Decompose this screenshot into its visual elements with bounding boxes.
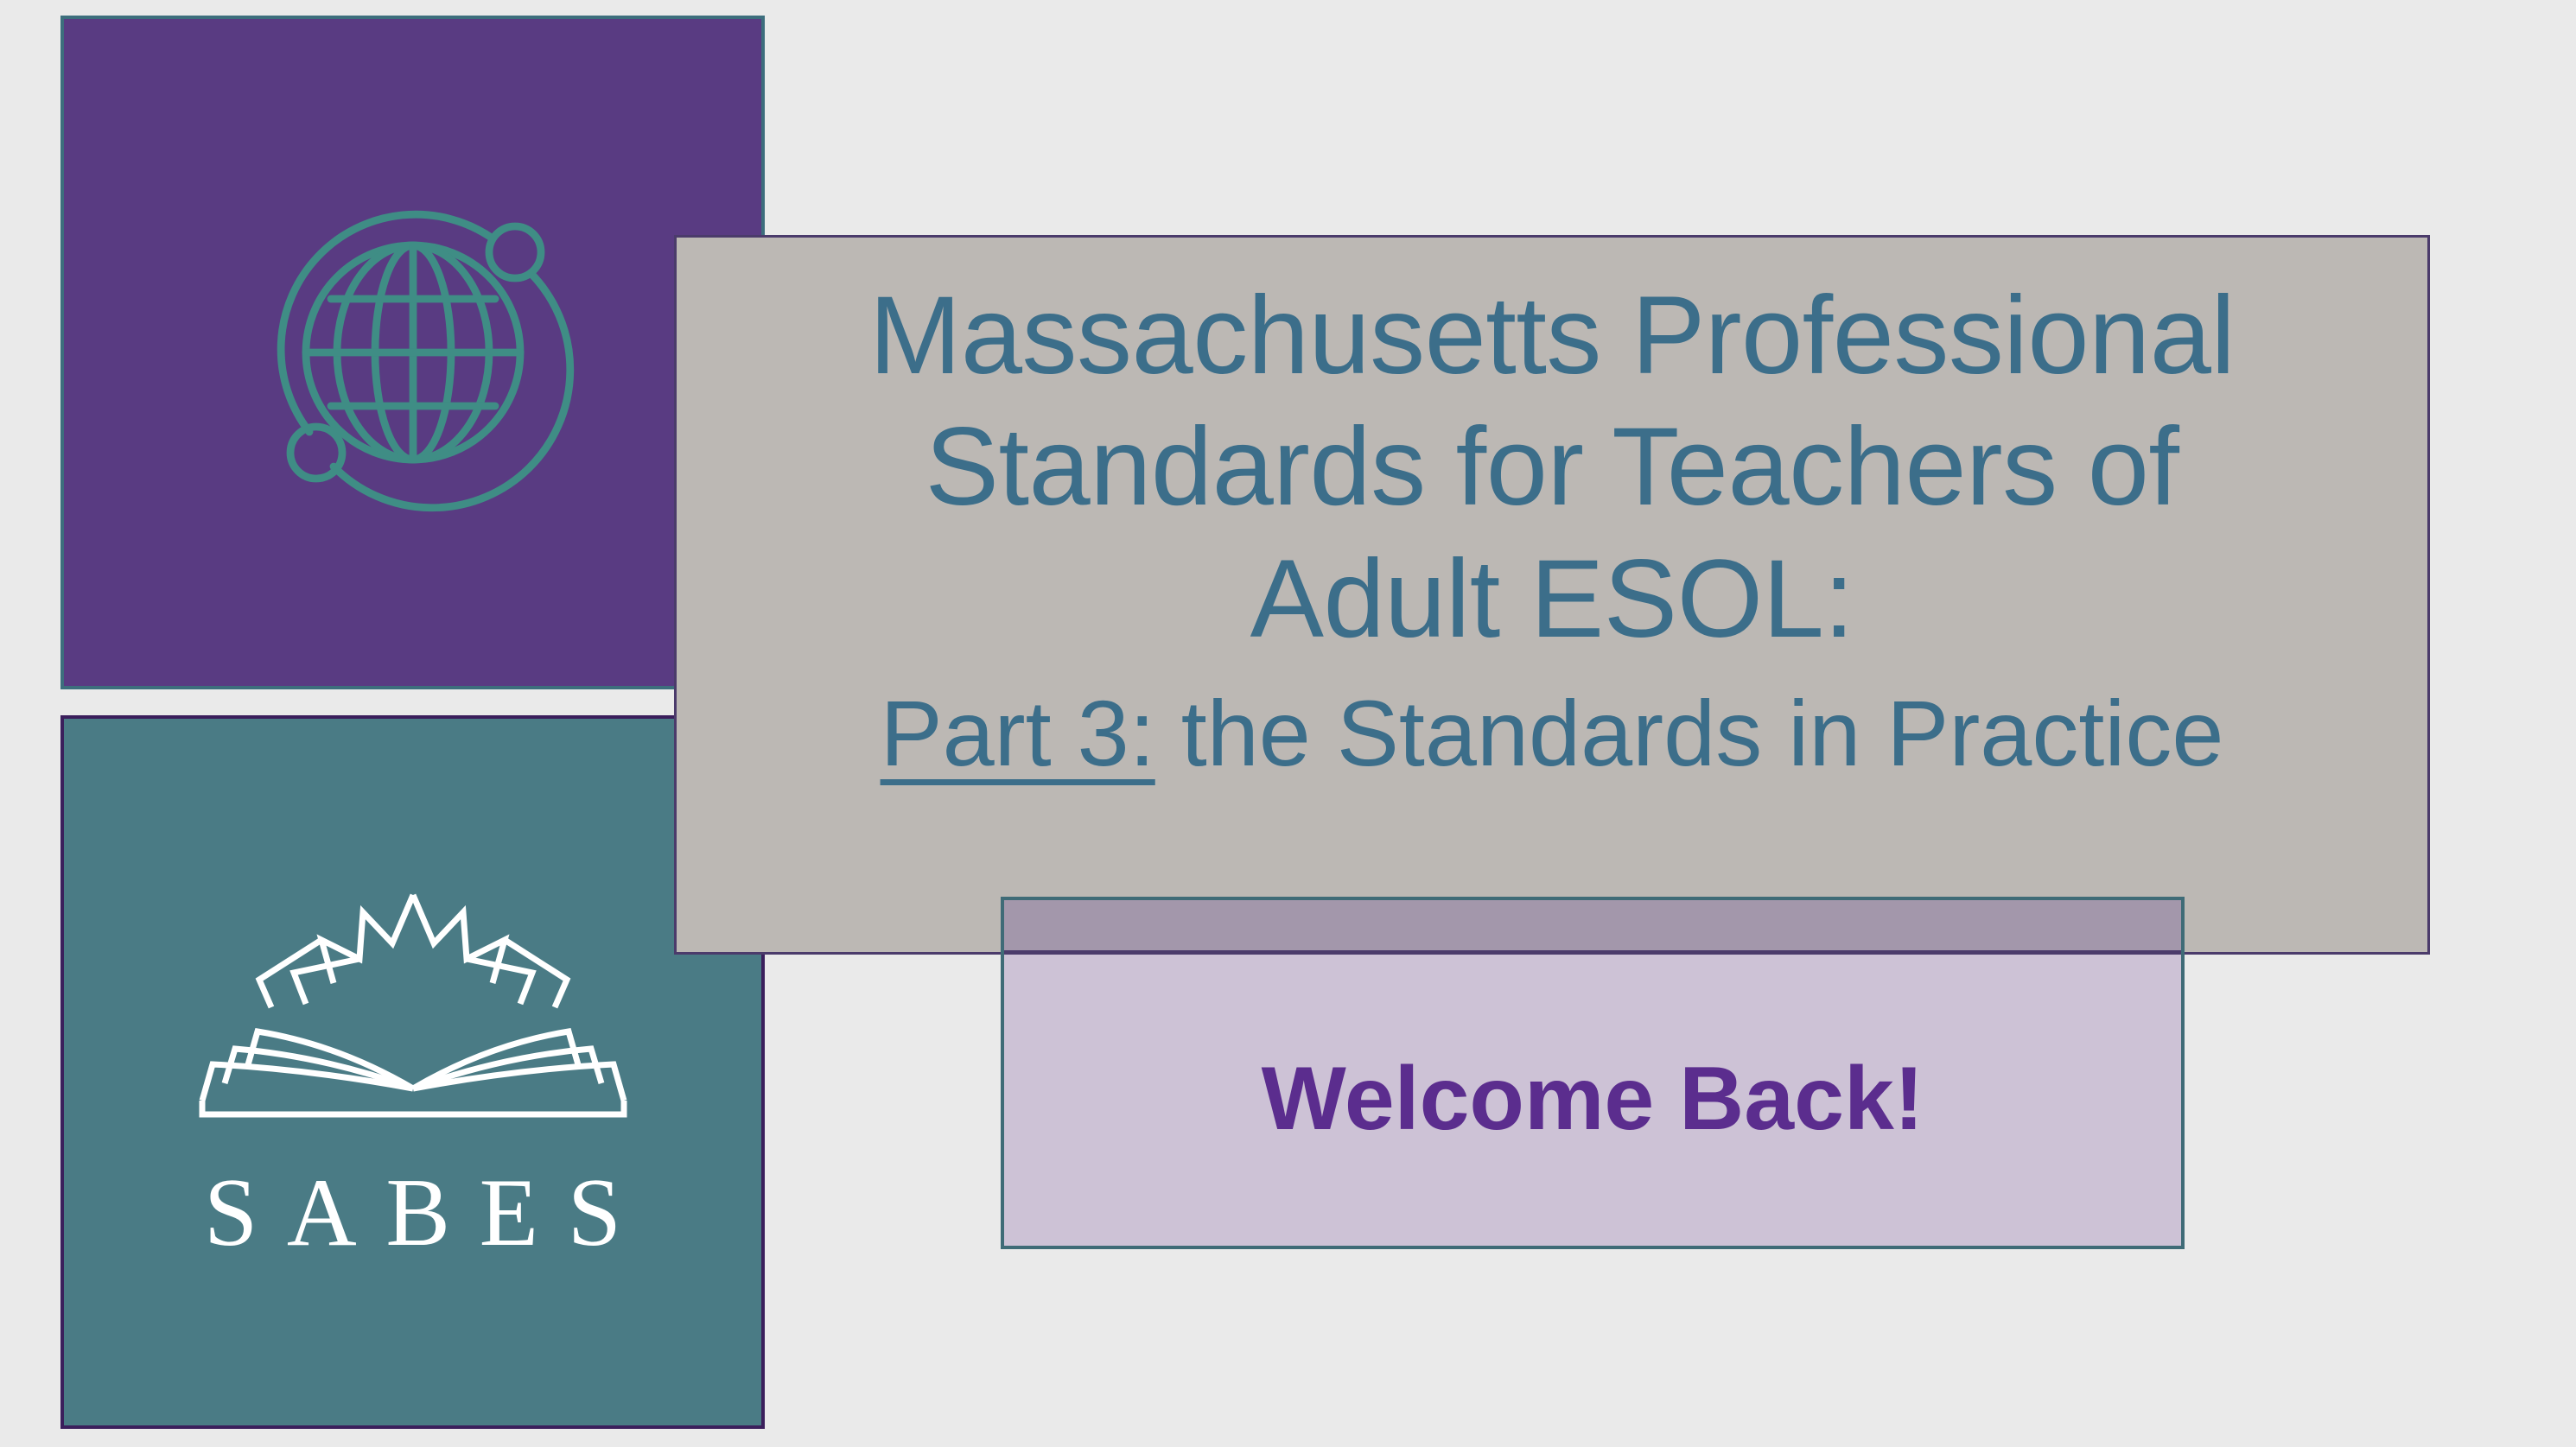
sabes-logo-tile: SABES bbox=[60, 715, 765, 1429]
open-book-sunrise-icon bbox=[188, 883, 638, 1142]
globe-network-icon bbox=[240, 180, 586, 525]
title-card: Massachusetts Professional Standards for… bbox=[674, 235, 2430, 955]
page-title: Massachusetts Professional Standards for… bbox=[713, 270, 2391, 665]
subtitle-rest-label: the Standards in Practice bbox=[1155, 681, 2224, 785]
welcome-box-overlap-band bbox=[1004, 900, 2181, 955]
globe-image-tile bbox=[60, 16, 765, 689]
presentation-slide: SABES Massachusetts Professional Standar… bbox=[0, 0, 2576, 1447]
page-subtitle: Part 3: the Standards in Practice bbox=[713, 677, 2391, 790]
welcome-box: Welcome Back! bbox=[1001, 897, 2185, 1249]
welcome-message: Welcome Back! bbox=[1004, 1054, 2181, 1144]
sabes-wordmark: SABES bbox=[175, 1165, 650, 1261]
subtitle-part-label: Part 3: bbox=[881, 681, 1155, 785]
